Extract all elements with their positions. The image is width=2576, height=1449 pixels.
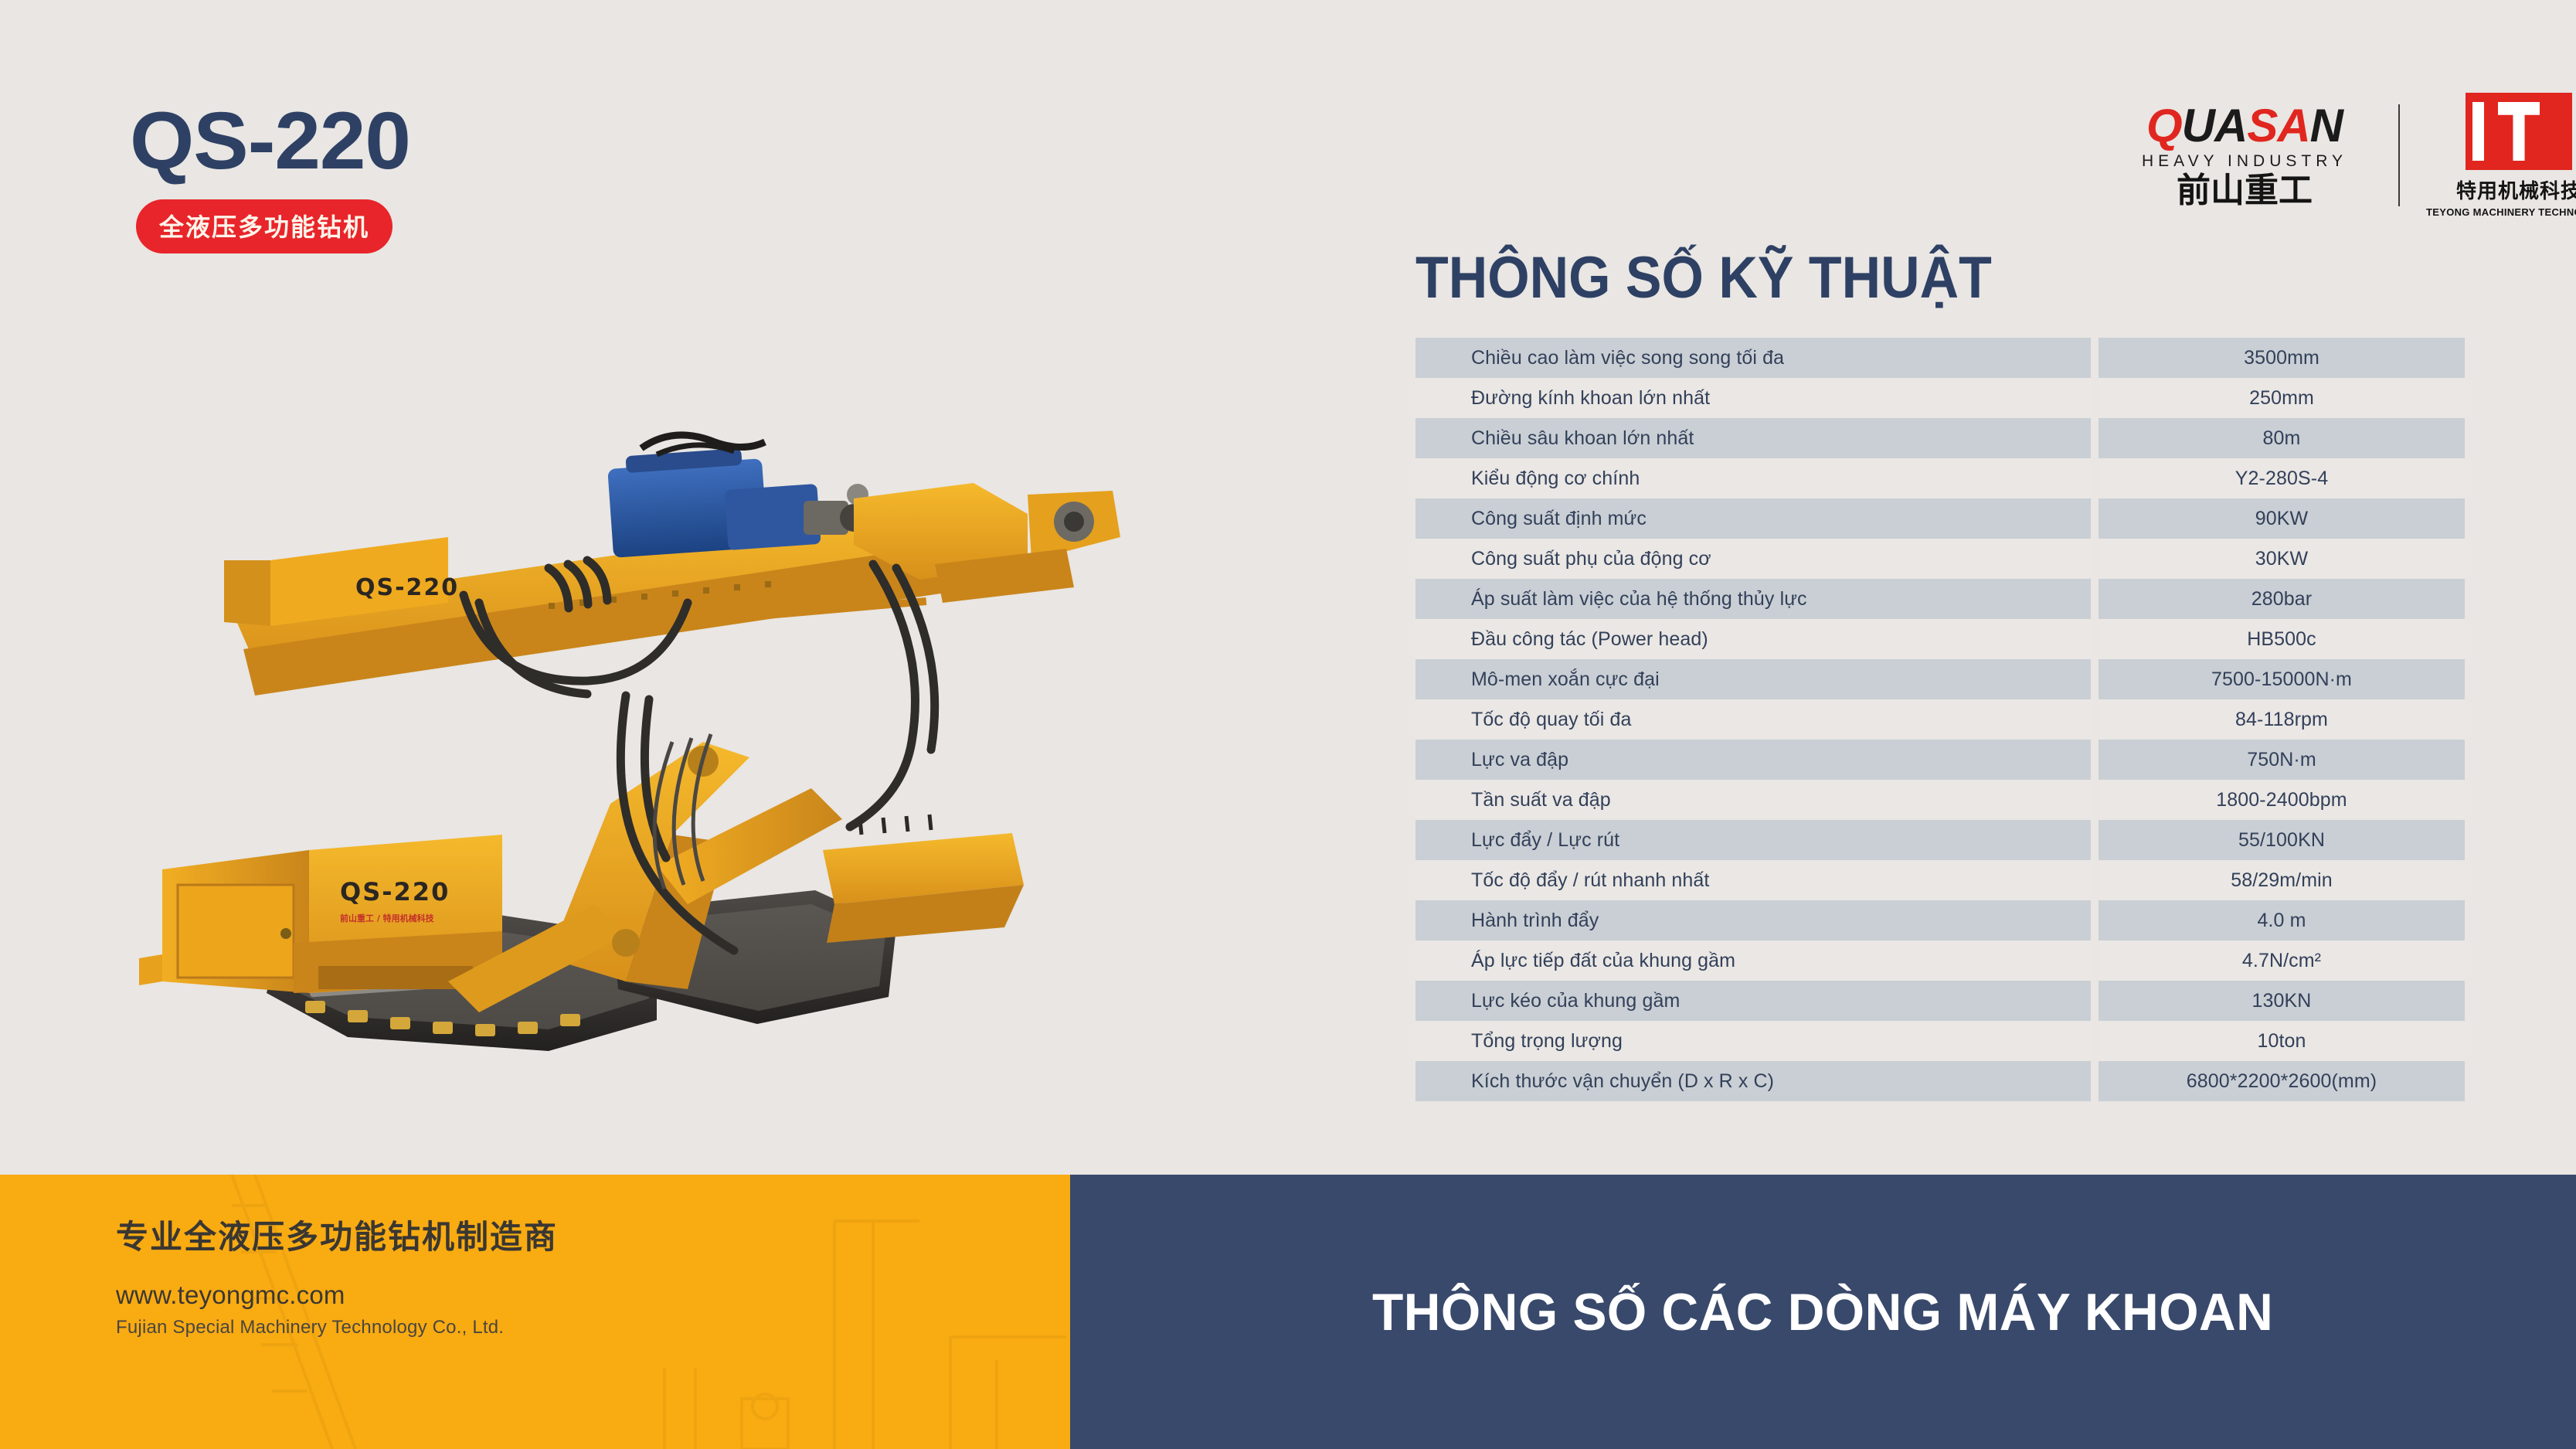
teyong-logo: 特用机械科技 TEYONG MACHINERY TECHNOLOGY — [2426, 93, 2576, 218]
spec-row: Tốc độ đẩy / rút nhanh nhất58/29m/min — [1415, 860, 2465, 900]
spec-column-gap — [2091, 740, 2099, 780]
engine-housing: QS-220 前山重工 / 特用机械科技 — [139, 835, 502, 993]
spec-row: Công suất định mức90KW — [1415, 498, 2465, 539]
spec-column-gap — [2091, 1021, 2099, 1061]
spec-row: Công suất phụ của động cơ30KW — [1415, 539, 2465, 579]
spec-row-value: 250mm — [2099, 378, 2465, 418]
spec-row-value: 750N·m — [2099, 740, 2465, 780]
spec-row-label: Tốc độ đẩy / rút nhanh nhất — [1415, 860, 2091, 900]
spec-row-value: 130KN — [2099, 981, 2465, 1021]
spec-row-value: 280bar — [2099, 579, 2465, 619]
footer-company-panel: 专业全液压多功能钻机制造商 www.teyongmc.com Fujian Sp… — [0, 1175, 1070, 1449]
product-photo: QS-220 前山重工 / 特用机械科技 QS-220 — [116, 371, 1120, 1066]
spec-column-gap — [2091, 338, 2099, 378]
spec-row-value: 55/100KN — [2099, 820, 2465, 860]
spec-row-value: 7500-15000N·m — [2099, 659, 2465, 699]
spec-column-gap — [2091, 378, 2099, 418]
footer-text-block: 专业全液压多功能钻机制造商 www.teyongmc.com Fujian Sp… — [116, 1219, 558, 1338]
spec-row: Đầu công tác (Power head)HB500c — [1415, 619, 2465, 659]
spec-row-label: Tốc độ quay tối đa — [1415, 699, 2091, 740]
spec-row: Kích thước vận chuyển (D x R x C)6800*22… — [1415, 1061, 2465, 1101]
spec-row: Lực va đập750N·m — [1415, 740, 2465, 780]
spec-row-value: 30KW — [2099, 539, 2465, 579]
spec-column-gap — [2091, 539, 2099, 579]
spec-row: Hành trình đẩy4.0 m — [1415, 900, 2465, 940]
spec-row-label: Đường kính khoan lớn nhất — [1415, 378, 2091, 418]
spec-row-value: 6800*2200*2600(mm) — [2099, 1061, 2465, 1101]
spec-row: Đường kính khoan lớn nhất250mm — [1415, 378, 2465, 418]
spec-row: Chiều sâu khoan lớn nhất80m — [1415, 418, 2465, 458]
spec-column-gap — [2091, 780, 2099, 820]
product-type-badge: 全液压多功能钻机 — [136, 199, 393, 253]
spec-column-gap — [2091, 458, 2099, 498]
quasan-chinese-name: 前山重工 — [2177, 174, 2313, 208]
spec-row: Áp lực tiếp đất của khung gầm4.7N/cm² — [1415, 940, 2465, 981]
spec-row: Lực đẩy / Lực rút55/100KN — [1415, 820, 2465, 860]
spec-row-label: Kiểu động cơ chính — [1415, 458, 2091, 498]
spec-row-label: Kích thước vận chuyển (D x R x C) — [1415, 1061, 2091, 1101]
spec-row: Lực kéo của khung gầm130KN — [1415, 981, 2465, 1021]
drill-rig-illustration: QS-220 前山重工 / 特用机械科技 QS-220 — [116, 371, 1120, 1066]
spec-row-value: 90KW — [2099, 498, 2465, 539]
brand-logos: QUASAN HEAVY INDUSTRY 前山重工 特用机械科技 TEYONG… — [2117, 93, 2576, 218]
svg-text:前山重工 / 特用机械科技: 前山重工 / 特用机械科技 — [340, 913, 435, 923]
spec-row-label: Chiều cao làm việc song song tối đa — [1415, 338, 2091, 378]
spec-row-label: Lực đẩy / Lực rút — [1415, 820, 2091, 860]
spec-row-label: Lực va đập — [1415, 740, 2091, 780]
footer-company-name: Fujian Special Machinery Technology Co.,… — [116, 1317, 558, 1338]
spec-row: Tần suất va đập1800-2400bpm — [1415, 780, 2465, 820]
footer-slogan: 专业全液压多功能钻机制造商 — [116, 1219, 558, 1255]
spec-row: Chiều cao làm việc song song tối đa3500m… — [1415, 338, 2465, 378]
spec-row-label: Lực kéo của khung gầm — [1415, 981, 2091, 1021]
spec-row-label: Áp lực tiếp đất của khung gầm — [1415, 940, 2091, 981]
spec-row-value: 1800-2400bpm — [2099, 780, 2465, 820]
spec-row: Tổng trọng lượng10ton — [1415, 1021, 2465, 1061]
spec-row-label: Công suất phụ của động cơ — [1415, 539, 2091, 579]
spec-column-gap — [2091, 498, 2099, 539]
spec-column-gap — [2091, 860, 2099, 900]
spec-column-gap — [2091, 619, 2099, 659]
spec-column-gap — [2091, 981, 2099, 1021]
teyong-logo-mark-icon — [2466, 93, 2572, 170]
spec-row-value: 3500mm — [2099, 338, 2465, 378]
spec-row-value: Y2-280S-4 — [2099, 458, 2465, 498]
spec-section-title: THÔNG SỐ KỸ THUẬT — [1415, 249, 1992, 308]
spec-column-gap — [2091, 820, 2099, 860]
product-model-title: QS-220 — [130, 100, 410, 182]
spec-column-gap — [2091, 1061, 2099, 1101]
spec-row: Tốc độ quay tối đa84-118rpm — [1415, 699, 2465, 740]
spec-row-label: Đầu công tác (Power head) — [1415, 619, 2091, 659]
spec-row-value: HB500c — [2099, 619, 2465, 659]
quasan-wordmark: QUASAN — [2146, 103, 2343, 149]
spec-row-value: 4.0 m — [2099, 900, 2465, 940]
spec-row-value: 84-118rpm — [2099, 699, 2465, 740]
spec-row: Áp suất làm việc của hệ thống thủy lực28… — [1415, 579, 2465, 619]
spec-column-gap — [2091, 418, 2099, 458]
footer-banner-panel: THÔNG SỐ CÁC DÒNG MÁY KHOAN — [1070, 1175, 2576, 1449]
spec-row-label: Áp suất làm việc của hệ thống thủy lực — [1415, 579, 2091, 619]
spec-row-label: Tần suất va đập — [1415, 780, 2091, 820]
teyong-english-name: TEYONG MACHINERY TECHNOLOGY — [2426, 206, 2576, 218]
spec-column-gap — [2091, 579, 2099, 619]
spec-row: Mô-men xoắn cực đại7500-15000N·m — [1415, 659, 2465, 699]
svg-text:QS-220: QS-220 — [355, 574, 459, 601]
spec-table: Chiều cao làm việc song song tối đa3500m… — [1415, 338, 2465, 1101]
spec-row: Kiểu động cơ chínhY2-280S-4 — [1415, 458, 2465, 498]
footer-banner-title: THÔNG SỐ CÁC DÒNG MÁY KHOAN — [1372, 1282, 2273, 1342]
quasan-logo: QUASAN HEAVY INDUSTRY 前山重工 — [2117, 103, 2372, 208]
spec-row-value: 10ton — [2099, 1021, 2465, 1061]
spec-row-label: Tổng trọng lượng — [1415, 1021, 2091, 1061]
logo-divider — [2398, 104, 2400, 206]
spec-row-label: Chiều sâu khoan lớn nhất — [1415, 418, 2091, 458]
spec-row-value: 4.7N/cm² — [2099, 940, 2465, 981]
spec-row-value: 58/29m/min — [2099, 860, 2465, 900]
page-root: QS-220 全液压多功能钻机 QUASAN HEAVY INDUSTRY 前山… — [0, 0, 2576, 1449]
quasan-tagline: HEAVY INDUSTRY — [2142, 152, 2347, 171]
spec-row-label: Công suất định mức — [1415, 498, 2091, 539]
footer-website[interactable]: www.teyongmc.com — [116, 1281, 558, 1310]
teyong-chinese-name: 特用机械科技 — [2456, 175, 2576, 204]
spec-row-label: Hành trình đẩy — [1415, 900, 2091, 940]
page-footer: 专业全液压多功能钻机制造商 www.teyongmc.com Fujian Sp… — [0, 1175, 2576, 1449]
svg-text:QS-220: QS-220 — [340, 877, 450, 906]
spec-column-gap — [2091, 659, 2099, 699]
stabilizer-plate — [823, 815, 1024, 943]
spec-row-value: 80m — [2099, 418, 2465, 458]
spec-row-label: Mô-men xoắn cực đại — [1415, 659, 2091, 699]
spec-column-gap — [2091, 699, 2099, 740]
spec-column-gap — [2091, 900, 2099, 940]
spec-column-gap — [2091, 940, 2099, 981]
